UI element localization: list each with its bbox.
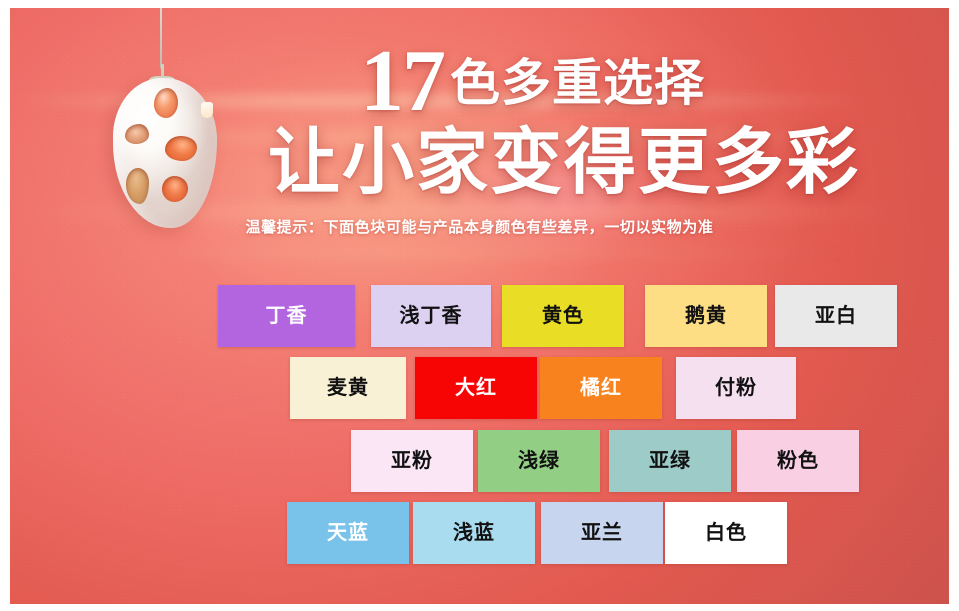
color-swatch-label: 粉色 [777, 451, 819, 471]
color-swatch-label: 天蓝 [327, 523, 369, 543]
color-swatch-label: 亚兰 [581, 523, 623, 543]
color-swatch[interactable]: 付粉 [676, 357, 796, 419]
color-swatch[interactable]: 丁香 [218, 285, 355, 347]
color-swatch[interactable]: 橘红 [540, 357, 662, 419]
swatch-row-3: 亚粉浅绿亚绿粉色 [351, 430, 859, 492]
color-swatch-label: 浅蓝 [453, 523, 495, 543]
color-swatch[interactable]: 亚绿 [609, 430, 731, 492]
color-swatch[interactable]: 白色 [665, 502, 787, 564]
color-swatch-label: 亚白 [815, 306, 857, 326]
color-swatch[interactable]: 麦黄 [290, 357, 406, 419]
poster-page: 17 色多重选择 让小家变得更多彩 温馨提示：下面色块可能与产品本身颜色有些差异… [0, 0, 959, 611]
color-swatch[interactable]: 粉色 [737, 430, 859, 492]
color-swatch[interactable]: 浅蓝 [413, 502, 535, 564]
color-swatch[interactable]: 大红 [415, 357, 537, 419]
color-swatch-label: 浅绿 [518, 451, 560, 471]
color-swatch[interactable]: 黄色 [502, 285, 624, 347]
poster-canvas: 17 色多重选择 让小家变得更多彩 温馨提示：下面色块可能与产品本身颜色有些差异… [10, 8, 949, 604]
color-swatch-label: 亚绿 [649, 451, 691, 471]
color-swatch[interactable]: 亚兰 [541, 502, 663, 564]
color-swatch-label: 白色 [705, 523, 747, 543]
color-swatch-label: 大红 [455, 378, 497, 398]
color-swatch-grid: 丁香浅丁香黄色鹅黄亚白 麦黄大红橘红付粉 亚粉浅绿亚绿粉色 天蓝浅蓝亚兰白色 [10, 8, 949, 604]
swatch-row-4: 天蓝浅蓝亚兰白色 [287, 502, 787, 564]
color-swatch-label: 橘红 [580, 378, 622, 398]
color-swatch-label: 黄色 [542, 306, 584, 326]
color-swatch-label: 浅丁香 [400, 306, 463, 326]
color-swatch-label: 付粉 [715, 378, 757, 398]
color-swatch-label: 亚粉 [391, 451, 433, 471]
color-swatch[interactable]: 亚粉 [351, 430, 473, 492]
color-swatch-label: 丁香 [266, 306, 308, 326]
swatch-row-2: 麦黄大红橘红付粉 [290, 357, 796, 419]
color-swatch[interactable]: 鹅黄 [645, 285, 767, 347]
swatch-row-1: 丁香浅丁香黄色鹅黄亚白 [218, 285, 897, 347]
color-swatch-label: 鹅黄 [685, 306, 727, 326]
color-swatch[interactable]: 天蓝 [287, 502, 409, 564]
color-swatch[interactable]: 浅绿 [478, 430, 600, 492]
color-swatch-label: 麦黄 [327, 378, 369, 398]
color-swatch[interactable]: 浅丁香 [371, 285, 491, 347]
color-swatch[interactable]: 亚白 [775, 285, 897, 347]
